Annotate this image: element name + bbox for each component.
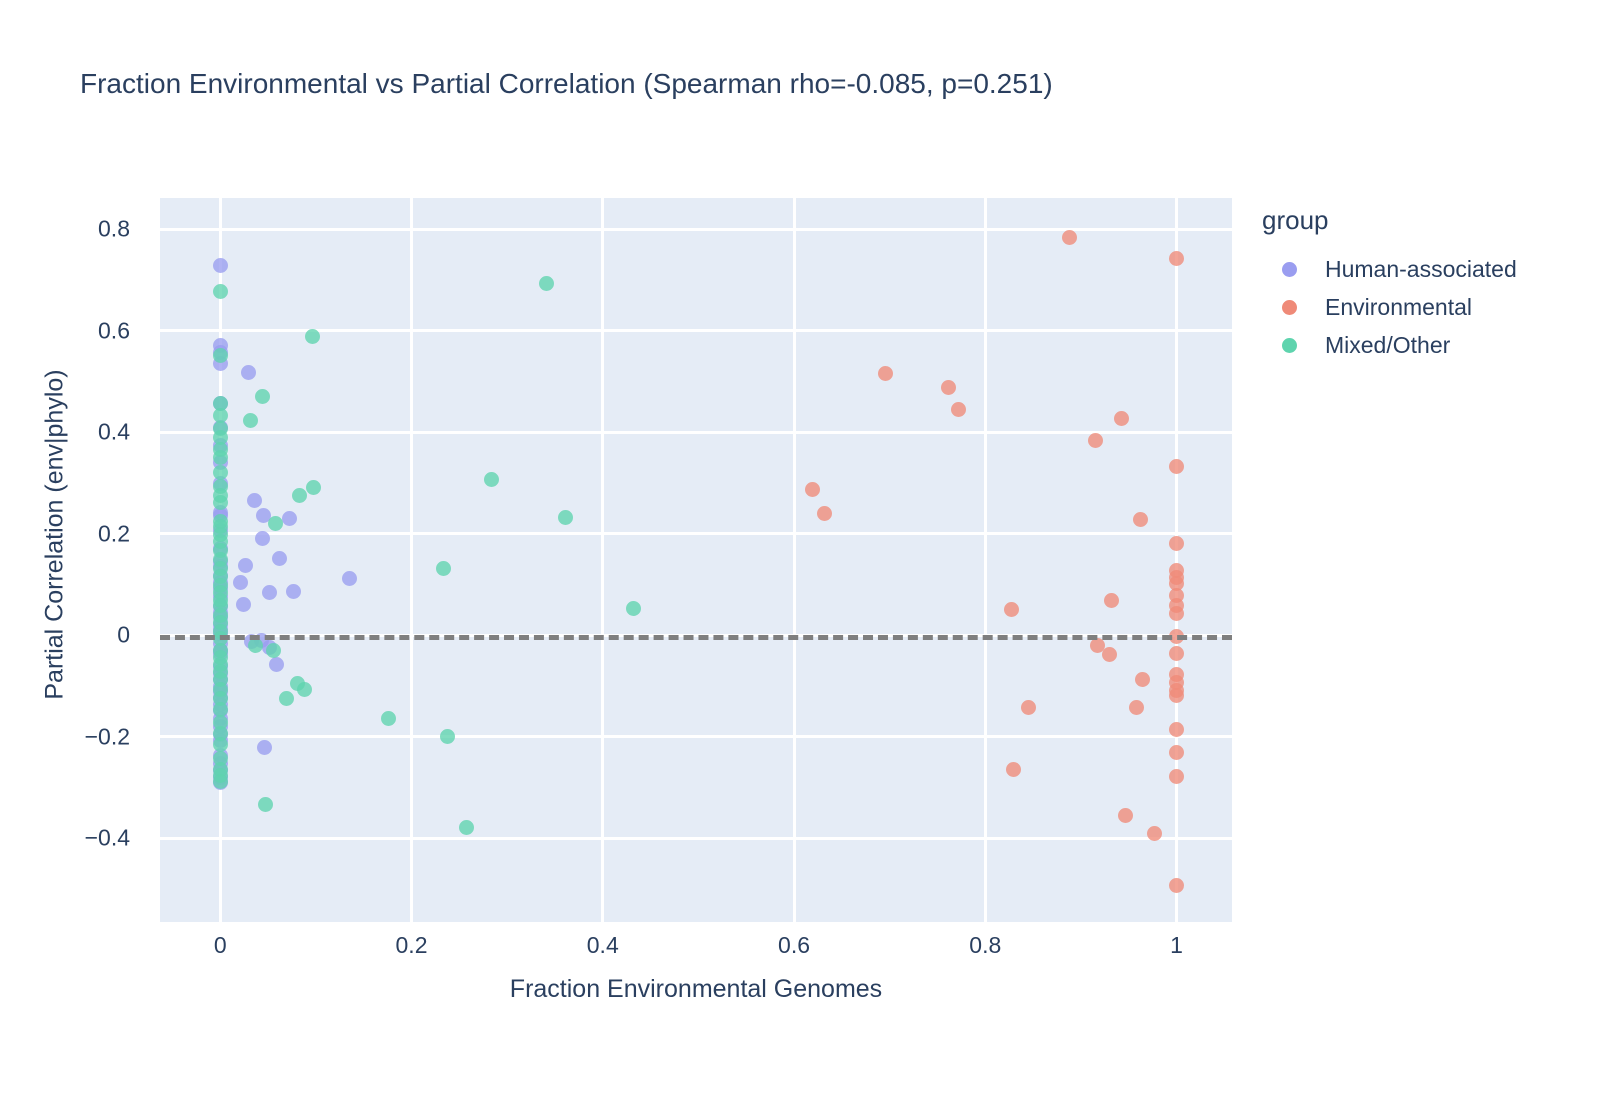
scatter-point (213, 450, 228, 465)
scatter-point (272, 551, 287, 566)
legend-item-mixed-other[interactable]: Mixed/Other (1262, 326, 1582, 364)
scatter-point (1169, 251, 1184, 266)
gridline-vertical (793, 198, 796, 922)
gridline-horizontal (160, 735, 1232, 738)
x-tick-label: 0.4 (587, 932, 619, 959)
scatter-plot-figure: Fraction Environmental vs Partial Correl… (0, 0, 1600, 1100)
legend-item-label: Environmental (1325, 294, 1472, 321)
scatter-point (297, 682, 312, 697)
scatter-point (941, 380, 956, 395)
legend-item-environmental[interactable]: Environmental (1262, 288, 1582, 326)
x-tick-label: 0.2 (396, 932, 428, 959)
scatter-point (213, 258, 228, 273)
legend-title: group (1262, 205, 1582, 236)
scatter-point (1135, 672, 1150, 687)
x-tick-label: 0.6 (778, 932, 810, 959)
scatter-point (247, 493, 262, 508)
scatter-point (558, 510, 573, 525)
scatter-point (878, 366, 893, 381)
legend-item-label: Human-associated (1325, 256, 1517, 283)
scatter-point (213, 737, 228, 752)
scatter-point (306, 480, 321, 495)
gridline-horizontal (160, 837, 1232, 840)
scatter-point (268, 516, 283, 531)
scatter-point (257, 740, 272, 755)
scatter-point (1021, 700, 1036, 715)
scatter-point (484, 472, 499, 487)
scatter-point (436, 561, 451, 576)
x-axis-label: Fraction Environmental Genomes (160, 975, 1232, 1004)
legend-marker-icon (1282, 338, 1297, 353)
scatter-point (1169, 745, 1184, 760)
gridline-horizontal (160, 431, 1232, 434)
gridline-horizontal (160, 532, 1232, 535)
gridline-vertical (601, 198, 604, 922)
scatter-point (279, 691, 294, 706)
legend-items: Human-associatedEnvironmentalMixed/Other (1262, 250, 1582, 364)
scatter-point (255, 389, 270, 404)
scatter-point (1129, 700, 1144, 715)
x-tick-label: 0.8 (969, 932, 1001, 959)
scatter-point (286, 584, 301, 599)
scatter-point (262, 585, 277, 600)
scatter-point (255, 531, 270, 546)
scatter-point (269, 657, 284, 672)
scatter-point (1088, 433, 1103, 448)
scatter-point (1104, 593, 1119, 608)
page-title: Fraction Environmental vs Partial Correl… (80, 68, 1053, 100)
gridline-horizontal (160, 329, 1232, 332)
scatter-point (1169, 878, 1184, 893)
scatter-point (213, 284, 228, 299)
scatter-point (292, 488, 307, 503)
scatter-point (213, 774, 228, 789)
legend-marker-icon (1282, 300, 1297, 315)
scatter-point (1169, 536, 1184, 551)
scatter-point (282, 511, 297, 526)
y-axis-label: Partial Correlation (env|phylo) (41, 235, 70, 835)
gridline-vertical (984, 198, 987, 922)
scatter-point (243, 413, 258, 428)
scatter-point (236, 597, 251, 612)
scatter-point (381, 711, 396, 726)
scatter-point (1004, 602, 1019, 617)
scatter-point (626, 601, 641, 616)
gridline-vertical (410, 198, 413, 922)
gridline-vertical (1175, 198, 1178, 922)
scatter-point (440, 729, 455, 744)
x-tick-label: 0 (214, 932, 227, 959)
scatter-point (1169, 688, 1184, 703)
scatter-point (1169, 606, 1184, 621)
scatter-point (233, 575, 248, 590)
scatter-point (539, 276, 554, 291)
scatter-point (1169, 646, 1184, 661)
scatter-point (1118, 808, 1133, 823)
legend-marker-icon (1282, 262, 1297, 277)
scatter-point (805, 482, 820, 497)
scatter-point (459, 820, 474, 835)
scatter-point (1133, 512, 1148, 527)
scatter-point (266, 643, 281, 658)
scatter-point (248, 638, 263, 653)
scatter-point (1114, 411, 1129, 426)
scatter-point (951, 402, 966, 417)
x-tick-label: 1 (1170, 932, 1183, 959)
scatter-point (1062, 230, 1077, 245)
scatter-point (238, 558, 253, 573)
legend-item-human-associated[interactable]: Human-associated (1262, 250, 1582, 288)
scatter-point (817, 506, 832, 521)
legend-item-label: Mixed/Other (1325, 332, 1450, 359)
scatter-point (1169, 459, 1184, 474)
scatter-point (258, 797, 273, 812)
zero-reference-line (160, 635, 1232, 640)
scatter-point (342, 571, 357, 586)
plot-area[interactable] (160, 198, 1232, 922)
scatter-point (1102, 647, 1117, 662)
scatter-point (241, 365, 256, 380)
scatter-point (1169, 769, 1184, 784)
legend: group Human-associatedEnvironmentalMixed… (1262, 205, 1582, 364)
scatter-point (213, 348, 228, 363)
scatter-point (305, 329, 320, 344)
scatter-point (1006, 762, 1021, 777)
